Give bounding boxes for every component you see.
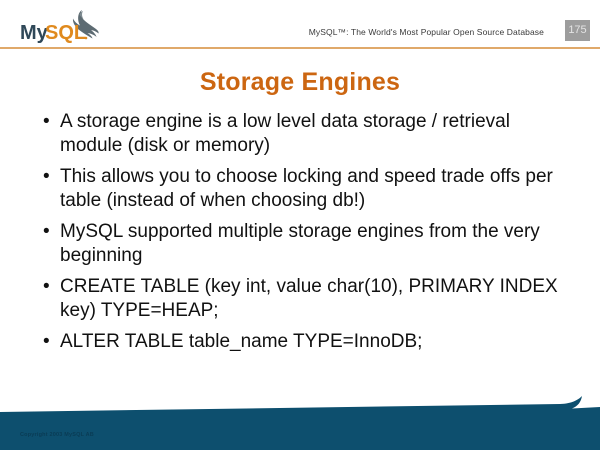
page-number-badge: 175 <box>565 20 590 41</box>
copyright-text: Copyright 2003 MySQL AB <box>20 432 94 438</box>
svg-text:SQL: SQL <box>45 22 86 44</box>
header-divider <box>0 47 600 49</box>
list-item: • This allows you to choose locking and … <box>38 165 568 213</box>
page-title: Storage Engines <box>0 68 600 97</box>
bullet-point-icon: • <box>38 165 60 189</box>
list-item-text: MySQL supported multiple storage engines… <box>60 220 568 268</box>
mysql-wordmark: My SQL <box>20 22 87 44</box>
mysql-logo: My SQL <box>20 6 130 46</box>
list-item-text: A storage engine is a low level data sto… <box>60 110 568 158</box>
slide-header: My SQL MySQL™: The World's Most Popular … <box>0 0 600 48</box>
list-item: • MySQL supported multiple storage engin… <box>38 220 568 268</box>
bullet-point-icon: • <box>38 110 60 134</box>
bullet-point-icon: • <box>38 275 60 299</box>
bullet-point-icon: • <box>38 220 60 244</box>
list-item: • A storage engine is a low level data s… <box>38 110 568 158</box>
list-item-text: CREATE TABLE (key int, value char(10), P… <box>60 275 568 323</box>
list-item-text: This allows you to choose locking and sp… <box>60 165 568 213</box>
footer-wedge-shape <box>0 396 600 450</box>
list-item: • ALTER TABLE table_name TYPE=InnoDB; <box>38 330 568 354</box>
list-item-text: ALTER TABLE table_name TYPE=InnoDB; <box>60 330 568 354</box>
footer-banner <box>0 390 600 450</box>
list-item: • CREATE TABLE (key int, value char(10),… <box>38 275 568 323</box>
bullet-point-icon: • <box>38 330 60 354</box>
header-tagline: MySQL™: The World's Most Popular Open So… <box>309 27 544 37</box>
bullet-list: • A storage engine is a low level data s… <box>38 110 568 361</box>
